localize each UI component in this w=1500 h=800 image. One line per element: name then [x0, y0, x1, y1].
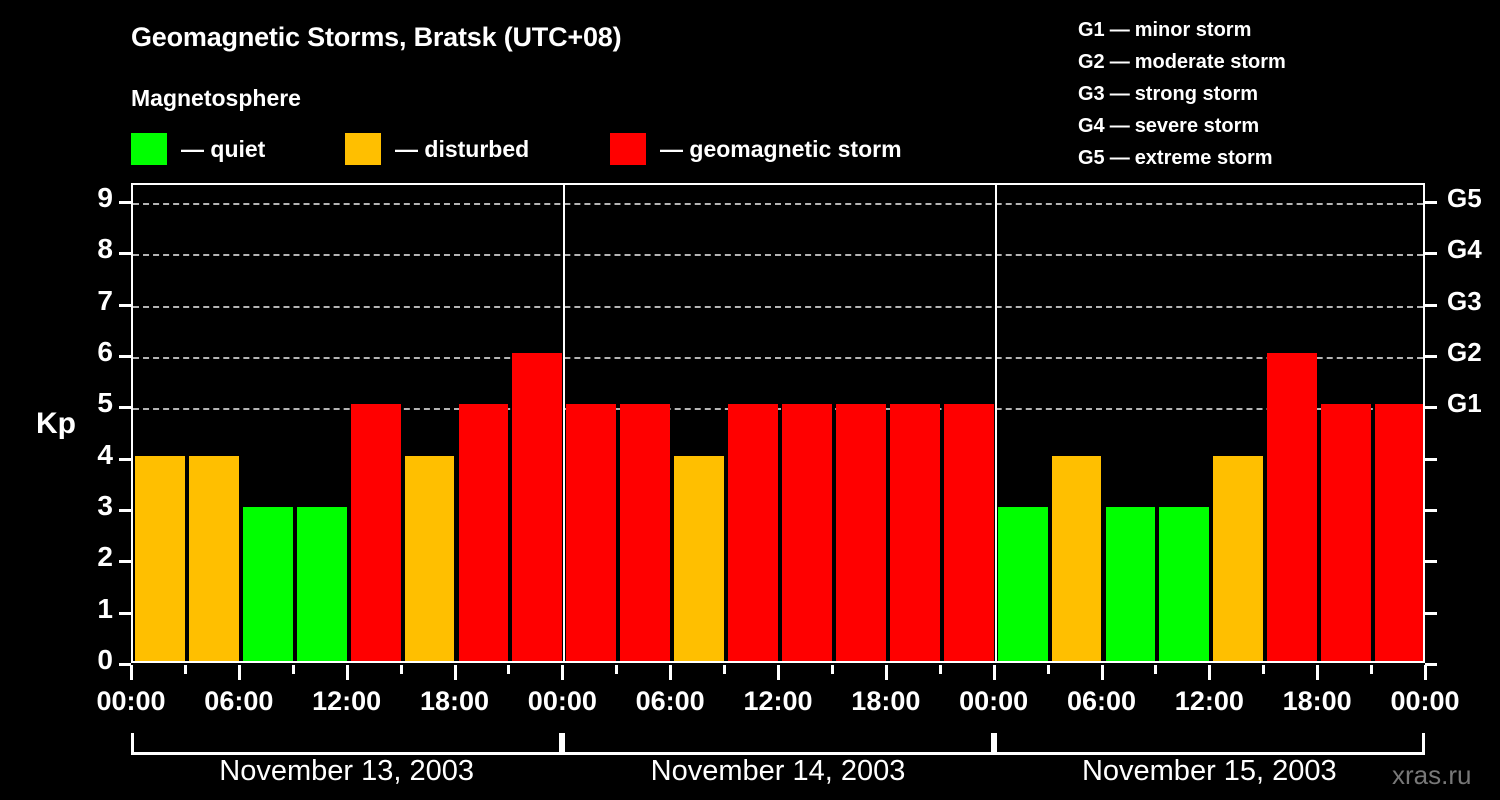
y-tick-mark — [119, 355, 131, 358]
x-tick-mark — [669, 665, 672, 680]
g-tick-mark — [1425, 560, 1437, 563]
x-tick-mark — [831, 665, 834, 674]
bar — [405, 456, 455, 661]
g-legend-row-g1: G1—minor storm — [1078, 14, 1286, 46]
g-legend-desc: moderate storm — [1135, 51, 1286, 73]
x-tick-mark — [1262, 665, 1265, 674]
x-axis-label: 12:00 — [312, 686, 381, 717]
y-tick-mark — [119, 201, 131, 204]
bar — [728, 404, 778, 661]
g-legend-desc: minor storm — [1135, 19, 1252, 41]
x-tick-mark — [1101, 665, 1104, 680]
x-axis-label: 06:00 — [1067, 686, 1136, 717]
gridline — [133, 357, 1423, 359]
g-legend-row-g5: G5—extreme storm — [1078, 142, 1286, 174]
bar — [620, 404, 670, 661]
x-axis-label: 00:00 — [1390, 686, 1459, 717]
legend-label-quiet: — quiet — [181, 136, 265, 163]
x-tick-mark — [1047, 665, 1050, 674]
x-axis-label: 00:00 — [959, 686, 1028, 717]
x-tick-mark — [939, 665, 942, 674]
x-tick-mark — [885, 665, 888, 680]
x-tick-mark — [1370, 665, 1373, 674]
date-bands: November 13, 2003November 14, 2003Novemb… — [0, 733, 1500, 800]
date-bracket — [994, 733, 1425, 755]
bar — [1375, 404, 1423, 661]
legend-swatch-disturbed-icon — [345, 133, 381, 165]
x-tick-mark — [507, 665, 510, 674]
bar — [1213, 456, 1263, 661]
g-axis-label-g2: G2 — [1447, 337, 1482, 368]
x-axis-label: 18:00 — [420, 686, 489, 717]
y-tick-label: 1 — [73, 593, 113, 625]
watermark: xras.ru — [1392, 760, 1471, 791]
x-tick-mark — [238, 665, 241, 680]
bar — [1052, 456, 1102, 661]
g-legend-code: G1 — [1078, 14, 1105, 46]
bar — [944, 404, 994, 661]
x-tick-mark — [130, 665, 133, 680]
bar — [1159, 507, 1209, 661]
y-tick-label: 9 — [73, 182, 113, 214]
y-tick-mark — [119, 612, 131, 615]
bar — [1321, 404, 1371, 661]
legend-swatch-storm-icon — [610, 133, 646, 165]
legend-entry-storm: — geomagnetic storm — [610, 132, 902, 166]
x-axis-label: 12:00 — [743, 686, 812, 717]
g-tick-mark — [1425, 406, 1437, 409]
x-axis-label: 18:00 — [1283, 686, 1352, 717]
g-legend-code: G3 — [1078, 78, 1105, 110]
page-title: Geomagnetic Storms, Bratsk (UTC+08) — [131, 22, 621, 53]
g-tick-mark — [1425, 458, 1437, 461]
g-tick-mark — [1425, 509, 1437, 512]
bar — [351, 404, 401, 661]
x-tick-mark — [1424, 665, 1427, 680]
plot-inner — [133, 185, 1423, 661]
bar — [297, 507, 347, 661]
bar — [998, 507, 1048, 661]
bar — [135, 456, 185, 661]
gridline — [133, 408, 1423, 410]
y-tick-mark — [119, 509, 131, 512]
date-bracket — [131, 733, 562, 755]
g-legend-dash: — — [1105, 78, 1135, 110]
g-legend-code: G5 — [1078, 142, 1105, 174]
x-tick-mark — [400, 665, 403, 674]
g-legend-desc: extreme storm — [1135, 147, 1273, 169]
x-tick-mark — [777, 665, 780, 680]
day-separator — [563, 185, 565, 661]
y-tick-label: 5 — [73, 387, 113, 419]
x-axis-label: 00:00 — [96, 686, 165, 717]
date-band-label: November 13, 2003 — [131, 755, 562, 788]
x-axis-ticks — [0, 665, 1500, 681]
g-legend-dash: — — [1105, 142, 1135, 174]
x-axis-label: 12:00 — [1175, 686, 1244, 717]
legend-swatch-quiet-icon — [131, 133, 167, 165]
bar — [1267, 353, 1317, 661]
x-axis-label: 06:00 — [636, 686, 705, 717]
bar — [189, 456, 239, 661]
bar — [836, 404, 886, 661]
bar — [782, 404, 832, 661]
y-tick-mark — [119, 304, 131, 307]
g-tick-mark — [1425, 612, 1437, 615]
legend-label-disturbed: — disturbed — [395, 136, 529, 163]
y-tick-mark — [119, 252, 131, 255]
y-tick-mark — [119, 458, 131, 461]
x-tick-mark — [1316, 665, 1319, 680]
y-axis-ticks: 0123456789 — [60, 183, 131, 663]
x-tick-mark — [561, 665, 564, 680]
x-tick-mark — [993, 665, 996, 680]
g-legend-row-g3: G3—strong storm — [1078, 78, 1286, 110]
legend-label-storm: — geomagnetic storm — [660, 136, 902, 163]
bar — [1106, 507, 1156, 661]
g-legend-desc: strong storm — [1135, 83, 1258, 105]
x-tick-mark — [615, 665, 618, 674]
g-legend-dash: — — [1105, 46, 1135, 78]
bar — [459, 404, 509, 661]
date-band-label: November 15, 2003 — [994, 755, 1425, 788]
g-axis-label-g5: G5 — [1447, 183, 1482, 214]
y-tick-label: 3 — [73, 490, 113, 522]
chart-root: Geomagnetic Storms, Bratsk (UTC+08) Magn… — [0, 0, 1500, 800]
bar — [566, 404, 616, 661]
plot-area — [131, 183, 1425, 663]
g-tick-mark — [1425, 252, 1437, 255]
x-tick-mark — [454, 665, 457, 680]
bar — [243, 507, 293, 661]
g-scale-axis: G1G2G3G4G5 — [1425, 183, 1500, 663]
y-tick-mark — [119, 406, 131, 409]
gridline — [133, 306, 1423, 308]
g-tick-mark — [1425, 355, 1437, 358]
g-tick-mark — [1425, 201, 1437, 204]
g-legend-row-g4: G4—severe storm — [1078, 110, 1286, 142]
g-legend-desc: severe storm — [1135, 115, 1260, 137]
legend-entry-disturbed: — disturbed — [345, 132, 529, 166]
x-tick-mark — [346, 665, 349, 680]
y-tick-label: 8 — [73, 233, 113, 265]
legend-entry-quiet: — quiet — [131, 132, 265, 166]
bar — [512, 353, 562, 661]
g-scale-legend: G1—minor stormG2—moderate stormG3—strong… — [1078, 14, 1286, 174]
y-tick-label: 4 — [73, 439, 113, 471]
g-tick-mark — [1425, 304, 1437, 307]
g-legend-dash: — — [1105, 14, 1135, 46]
y-tick-label: 6 — [73, 336, 113, 368]
x-axis-label: 18:00 — [851, 686, 920, 717]
g-legend-code: G2 — [1078, 46, 1105, 78]
bar — [674, 456, 724, 661]
g-legend-code: G4 — [1078, 110, 1105, 142]
y-tick-label: 7 — [73, 285, 113, 317]
g-axis-label-g1: G1 — [1447, 388, 1482, 419]
chart-subtitle: Magnetosphere — [131, 85, 301, 112]
x-tick-mark — [1208, 665, 1211, 680]
g-legend-row-g2: G2—moderate storm — [1078, 46, 1286, 78]
y-tick-mark — [119, 560, 131, 563]
date-band-label: November 14, 2003 — [562, 755, 993, 788]
day-separator — [995, 185, 997, 661]
x-tick-mark — [292, 665, 295, 674]
gridline — [133, 254, 1423, 256]
g-axis-label-g3: G3 — [1447, 286, 1482, 317]
x-axis-labels: 00:0006:0012:0018:0000:0006:0012:0018:00… — [0, 686, 1500, 722]
x-tick-mark — [723, 665, 726, 674]
g-legend-dash: — — [1105, 110, 1135, 142]
x-axis-label: 00:00 — [528, 686, 597, 717]
x-tick-mark — [184, 665, 187, 674]
x-tick-mark — [1154, 665, 1157, 674]
bar — [890, 404, 940, 661]
g-axis-label-g4: G4 — [1447, 234, 1482, 265]
x-axis-label: 06:00 — [204, 686, 273, 717]
y-tick-label: 2 — [73, 541, 113, 573]
gridline — [133, 203, 1423, 205]
date-bracket — [562, 733, 993, 755]
